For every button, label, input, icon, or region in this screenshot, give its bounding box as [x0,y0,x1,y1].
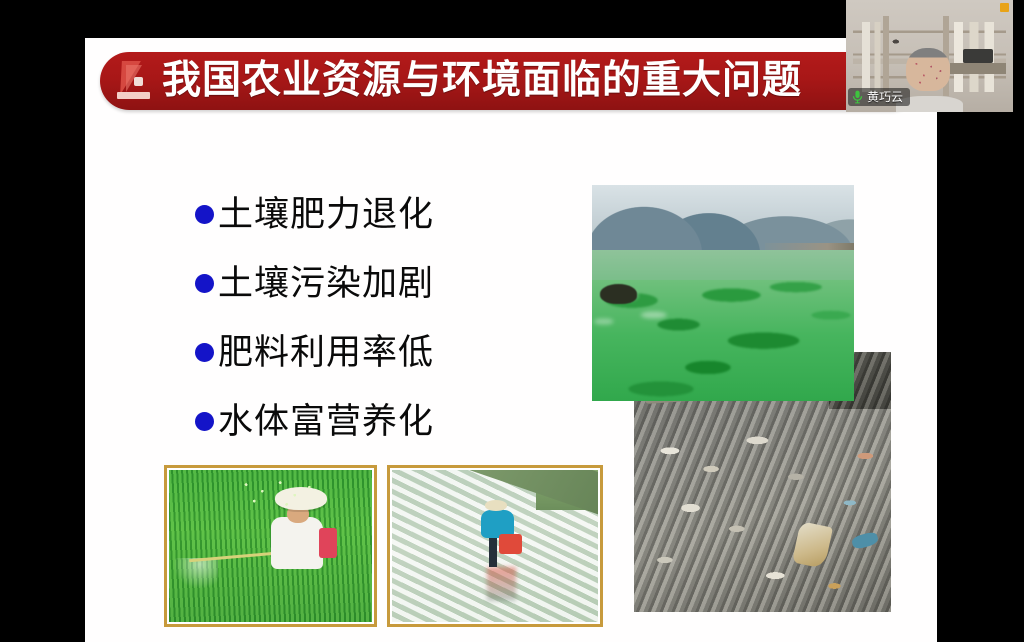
list-item: 肥料利用率低 [195,318,525,387]
pesticide-spraying-photo [164,465,377,627]
shelf-post-left [883,16,889,97]
participant-name-badge: 黄巧云 [848,88,910,106]
slide-title-banner: 我国农业资源与环境面临的重大问题 [100,52,920,110]
list-item: 土壤污染加剧 [195,249,525,318]
monitor-decor [963,49,993,62]
list-item-label: 土壤污染加剧 [218,264,434,304]
participant-name-label: 黄巧云 [867,90,903,104]
pin-indicator-icon[interactable] [1000,3,1009,12]
fertilizer-spreading-photo [387,465,603,627]
list-item-label: 肥料利用率低 [218,333,434,373]
participant-video-tile[interactable]: 黄巧云 [846,0,1013,112]
shared-slide: 我国农业资源与环境面临的重大问题 土壤肥力退化 土壤污染加剧 肥料利用率低 水体… [85,38,937,642]
microphone-icon[interactable] [852,90,863,104]
bullet-dot-icon [195,205,214,224]
list-item-label: 土壤肥力退化 [218,195,434,235]
red-flag-monument-icon [114,59,156,103]
desk-decor [950,63,1007,74]
algae-bloom-lake-photo [592,185,854,401]
list-item: 土壤肥力退化 [195,180,525,249]
face-tracking-points [909,58,946,87]
bullet-dot-icon [195,343,214,362]
bullet-dot-icon [195,412,214,431]
bullet-dot-icon [195,274,214,293]
slide-bullet-list: 土壤肥力退化 土壤污染加剧 肥料利用率低 水体富营养化 [195,180,525,456]
list-item: 水体富营养化 [195,387,525,456]
screen-share-viewport: 我国农业资源与环境面临的重大问题 土壤肥力退化 土壤污染加剧 肥料利用率低 水体… [0,0,1024,642]
list-item-label: 水体富营养化 [218,402,434,442]
page-title: 我国农业资源与环境面临的重大问题 [162,60,802,102]
